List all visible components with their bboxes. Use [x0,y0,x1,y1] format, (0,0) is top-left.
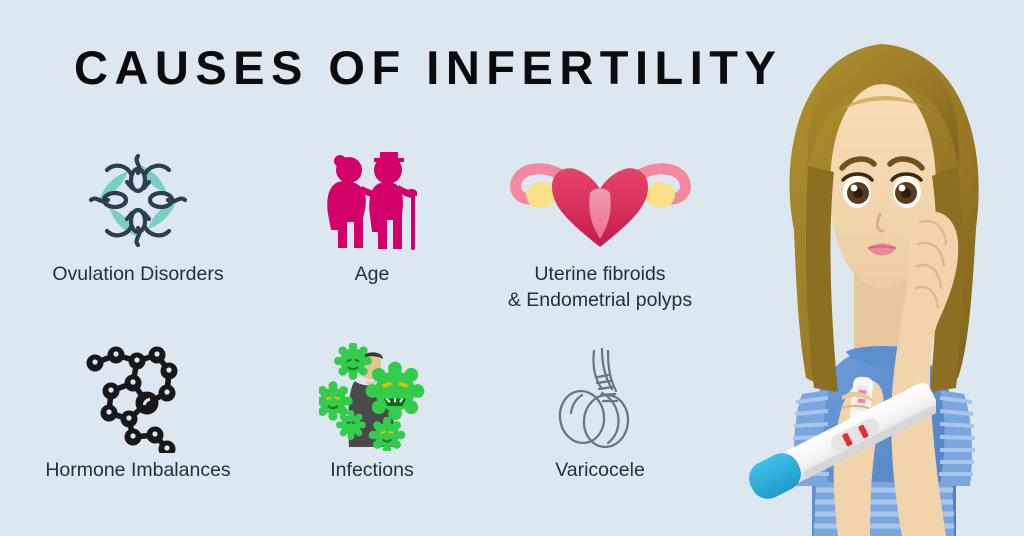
molecule-icon [83,341,193,453]
uterus-icon [508,151,693,251]
testicles-line-icon-wrap [480,344,720,449]
cause-label-uterine-fibroids: Uterine fibroids & Endometrial polyps [480,261,720,313]
molecule-icon-wrap [18,344,258,449]
cause-label-ovulation-disorders: Ovulation Disorders [18,261,258,287]
cause-item-age[interactable]: Age [282,148,462,287]
cause-label-infections: Infections [282,457,462,483]
elderly-couple-icon [318,148,426,253]
virus-person-icon-wrap [282,344,462,449]
page-title: CAUSES OF INFERTILITY [74,40,734,96]
cause-item-uterine-fibroids[interactable]: Uterine fibroids & Endometrial polyps [480,148,720,313]
virus-person-icon [319,343,425,451]
infographic-canvas: CAUSES OF INFERTILITY [0,0,1024,536]
elderly-couple-icon-wrap [282,148,462,253]
cause-label-hormone-imbalances: Hormone Imbalances [18,457,258,483]
cause-item-ovulation-disorders[interactable]: Ovulation Disorders [18,148,258,287]
cause-label-age: Age [282,261,462,287]
uterus-icon-wrap [480,148,720,253]
sperm-rosette-icon [83,148,193,253]
cause-label-varicocele: Varicocele [480,457,720,483]
cause-item-varicocele[interactable]: Varicocele [480,344,720,483]
sperm-rosette-icon-wrap [18,148,258,253]
cause-item-hormone-imbalances[interactable]: Hormone Imbalances [18,344,258,483]
pregnancy-test-stick [736,376,936,516]
cause-item-infections[interactable]: Infections [282,344,462,483]
testicles-line-icon [552,345,648,449]
